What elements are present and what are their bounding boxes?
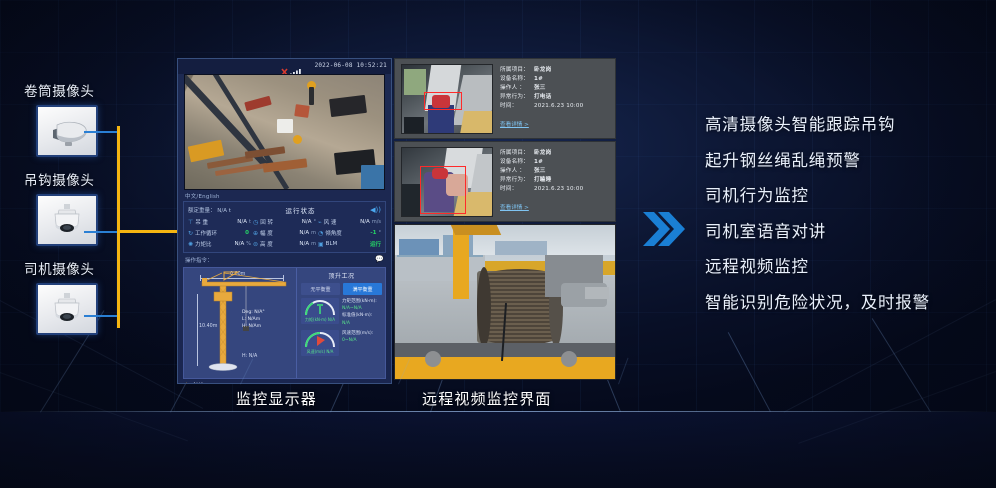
view-details-link[interactable]: 查看详情 > bbox=[500, 120, 529, 128]
remote-monitor-ui: 所属项目：卧龙岗 设备名称：1# 操作人 ：张三 异常行为：打电话 时间：202… bbox=[394, 58, 616, 384]
lifting-condition-panel: 顶升工况 无平衡重 满平衡重 力矩(kN·m) N/A 力矩范围(kN·m): bbox=[296, 268, 385, 378]
hook-height-label: H: N/A bbox=[242, 354, 257, 359]
param-cell: ◔倾角度-1° bbox=[318, 229, 381, 237]
param-cell: ↻工作循环0 bbox=[188, 229, 251, 237]
panel-title: 顶升工况 bbox=[301, 271, 382, 280]
command-bar: 操作指令： 💬 bbox=[178, 253, 391, 266]
camera-label: 卷筒摄像头 bbox=[14, 80, 154, 100]
param-cell: ⌁风 速N/Am/s bbox=[318, 218, 381, 226]
wind-range-text: 风速范围(m/s): 0~N/A bbox=[342, 330, 382, 356]
wire-bus-horizontal bbox=[117, 230, 181, 233]
event-info: 所属项目：卧龙岗 设备名称：1# 操作人 ：张三 异常行为：打电话 时间：202… bbox=[500, 64, 609, 133]
wire-bus-vertical bbox=[117, 126, 120, 328]
footer-value: N/A bbox=[193, 382, 204, 384]
moment-range-text: 力矩范围(kN·m): N/A~N/A 标准值(kN·m): N/A bbox=[342, 298, 382, 327]
caption-remote: 远程视频监控界面 bbox=[422, 388, 552, 409]
param-cell: ⊜高 度N/Am bbox=[253, 240, 316, 248]
status-panel: 额定重量： N/A t 运行状态 ◀)) ⊤吊 重N/At ◷回 转N/A° ⌁… bbox=[183, 201, 386, 253]
rated-weight: 额定重量： N/A t bbox=[188, 206, 231, 214]
crane-info: Deg: N/A° L: N/Am H: N/Am bbox=[242, 310, 265, 331]
monitor-titlebar: 2022-06-08 10:52:21 bbox=[178, 59, 391, 74]
command-label: 操作指令： bbox=[185, 258, 213, 264]
moment-gauge-icon: 力矩(kN·m) N/A bbox=[301, 298, 339, 324]
view-details-link[interactable]: 查看详情 > bbox=[500, 203, 529, 211]
feature-item: 高清摄像头智能跟踪吊钩 bbox=[705, 117, 985, 134]
winch-drum-live-view[interactable] bbox=[394, 224, 616, 380]
event-info: 所属项目：卧龙岗 设备名称：1# 操作人 ：张三 异常行为：打瞌睡 时间：202… bbox=[500, 147, 609, 216]
camera-item-driver[interactable]: 司机摄像头 bbox=[14, 258, 154, 335]
feature-item: 智能识别危险状况，及时报警 bbox=[705, 295, 985, 312]
wire-hook bbox=[84, 231, 118, 233]
camera-label: 司机摄像头 bbox=[14, 258, 154, 278]
camera-list: 卷筒摄像头 吊钩摄像头 司机摄像头 bbox=[14, 80, 154, 347]
crane-diagram-panel: 0.00m 10.40m bbox=[183, 267, 386, 379]
double-chevron-right-icon bbox=[641, 206, 687, 256]
monitor-timestamp: 2022-06-08 10:52:21 bbox=[315, 62, 387, 69]
camera-item-hook[interactable]: 吊钩摄像头 bbox=[14, 169, 154, 246]
status-title: 运行状态 bbox=[231, 205, 370, 215]
camera-item-drum[interactable]: 卷筒摄像头 bbox=[14, 80, 154, 157]
monitor-display: 2022-06-08 10:52:21 中文/English 额定重量： N/A… bbox=[177, 58, 392, 384]
tab-no-counterweight[interactable]: 无平衡重 bbox=[301, 283, 340, 295]
tab-full-counterweight[interactable]: 满平衡重 bbox=[343, 283, 382, 295]
caption-monitor: 监控显示器 bbox=[236, 388, 317, 409]
event-card[interactable]: 所属项目：卧龙岗 设备名称：1# 操作人 ：张三 异常行为：打瞌睡 时间：202… bbox=[394, 141, 616, 222]
param-cell: ◷回 转N/A° bbox=[253, 218, 316, 226]
gear-icon[interactable]: ⚙ bbox=[184, 382, 189, 384]
speaker-icon[interactable]: ◀)) bbox=[370, 206, 381, 214]
param-cell: ⊤吊 重N/At bbox=[188, 218, 251, 226]
feature-item: 司机行为监控 bbox=[705, 188, 985, 205]
feature-list: 高清摄像头智能跟踪吊钩 起升钢丝绳乱绳预警 司机行为监控 司机室语音对讲 远程视… bbox=[705, 117, 985, 311]
dome-camera-icon bbox=[36, 194, 98, 246]
chat-icon[interactable]: 💬 bbox=[375, 255, 384, 263]
language-toggle[interactable]: 中文/English bbox=[178, 190, 391, 201]
feature-item: 司机室语音对讲 bbox=[705, 224, 985, 241]
param-cell: ⊕幅 度N/Am bbox=[253, 229, 316, 237]
camera-label: 吊钩摄像头 bbox=[14, 169, 154, 189]
wire-drum bbox=[84, 131, 118, 133]
wire-driver bbox=[84, 315, 118, 317]
dome-camera-icon bbox=[36, 283, 98, 335]
cab-driver-sleep-thumb[interactable] bbox=[401, 147, 493, 217]
overhead-site-video[interactable] bbox=[184, 74, 385, 190]
param-cell: ✺力矩比N/A% bbox=[188, 240, 251, 248]
cab-driver-phone-thumb[interactable] bbox=[401, 64, 493, 134]
wind-gauge-icon: 风速(m/s) N/A bbox=[301, 330, 339, 356]
feature-item: 起升钢丝绳乱绳预警 bbox=[705, 153, 985, 170]
parameter-grid: ⊤吊 重N/At ◷回 转N/A° ⌁风 速N/Am/s ↻工作循环0 ⊕幅 度… bbox=[188, 218, 381, 248]
event-card[interactable]: 所属项目：卧龙岗 设备名称：1# 操作人 ：张三 异常行为：打电话 时间：202… bbox=[394, 58, 616, 139]
param-cell: ▣BLM运行 bbox=[318, 240, 381, 248]
feature-item: 远程视频监控 bbox=[705, 259, 985, 276]
crane-schematic: 0.00m 10.40m bbox=[184, 268, 296, 378]
